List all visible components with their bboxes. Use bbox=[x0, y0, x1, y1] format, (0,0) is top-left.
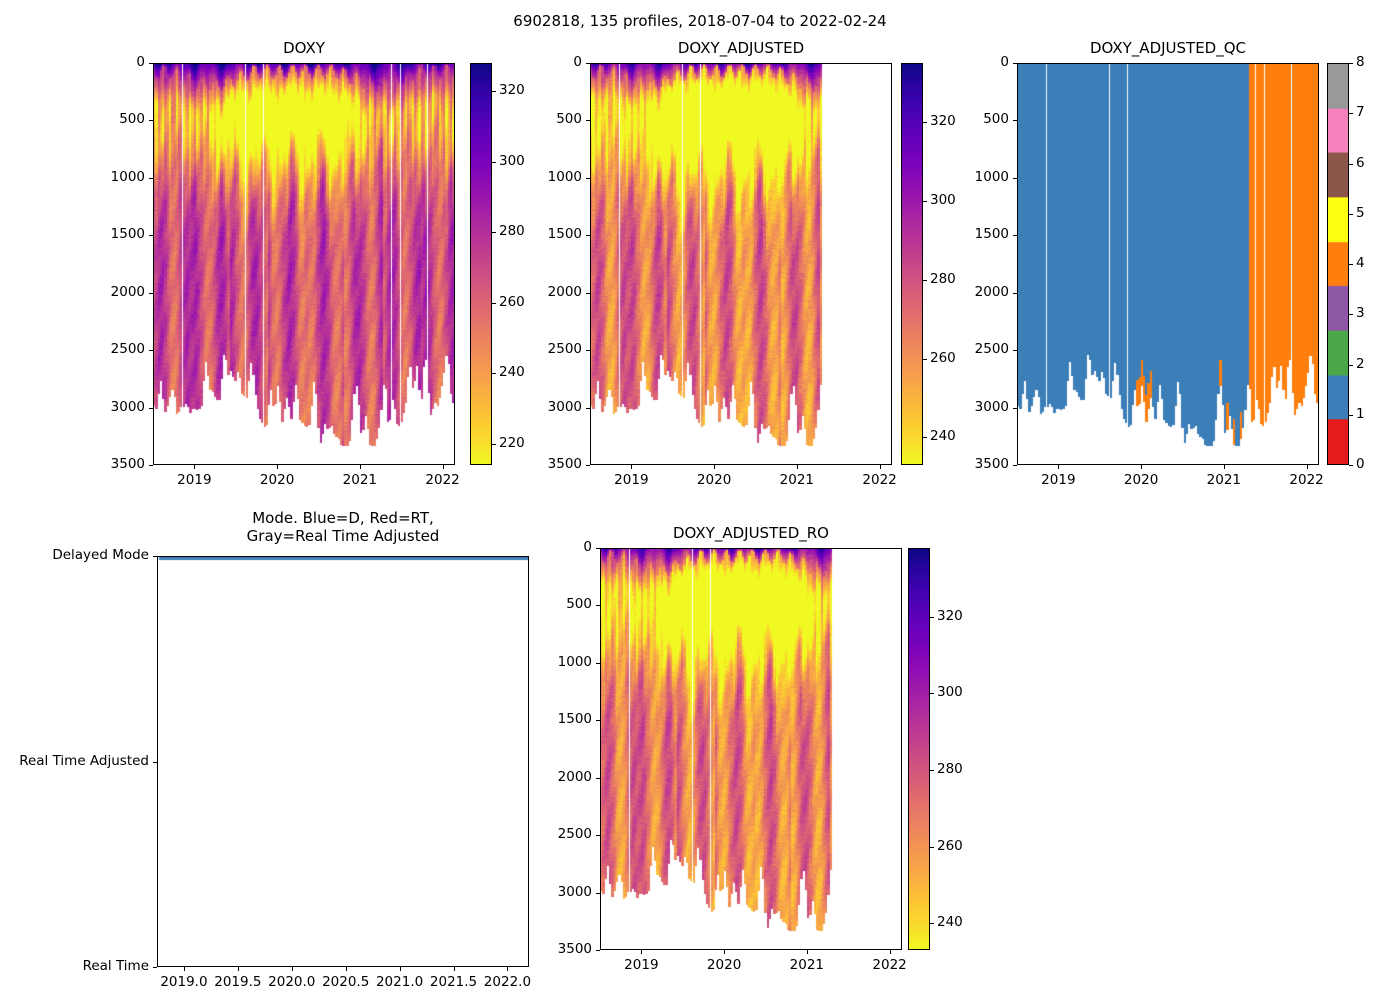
doxy-adjusted-ytick-label: 3500 bbox=[526, 456, 582, 472]
mode-ytick-mark bbox=[153, 967, 157, 968]
doxy-adjusted-qc-ytick-mark bbox=[1013, 235, 1017, 236]
doxy-adjusted-ytick-mark bbox=[586, 120, 590, 121]
doxy-adjusted-qc-ytick-mark bbox=[1013, 63, 1017, 64]
doxy-adjusted-ro-ytick-mark bbox=[596, 835, 600, 836]
doxy-adjusted-cbar-tick-mark bbox=[923, 280, 927, 281]
mode-xtick-mark bbox=[238, 967, 239, 971]
doxy-adjusted-qc-colorbar[interactable] bbox=[1327, 63, 1349, 465]
doxy-adjusted-qc-xtick-mark bbox=[1141, 465, 1142, 469]
doxy-xtick-label: 2020 bbox=[247, 472, 307, 488]
doxy-ytick-label: 500 bbox=[89, 111, 145, 127]
doxy-adjusted-ro-xtick-label: 2019 bbox=[611, 957, 671, 973]
doxy-adjusted-qc-ytick-mark bbox=[1013, 350, 1017, 351]
doxy-adjusted-xtick-mark bbox=[880, 465, 881, 469]
doxy-adjusted-qc-ytick-mark bbox=[1013, 293, 1017, 294]
doxy-adjusted-qc-ytick-label: 2000 bbox=[953, 284, 1009, 300]
doxy-cbar-tick-mark bbox=[492, 444, 496, 445]
doxy-adjusted-ro-xtick-mark bbox=[807, 950, 808, 954]
doxy-cbar-tick-mark bbox=[492, 232, 496, 233]
doxy-ytick-label: 1500 bbox=[89, 226, 145, 242]
doxy-adjusted-ro-plot-area[interactable] bbox=[600, 548, 902, 950]
doxy-adjusted-ytick-label: 1000 bbox=[526, 169, 582, 185]
doxy-adjusted-qc-cbar-tick-mark bbox=[1349, 465, 1353, 466]
doxy-adjusted-qc-plot-area[interactable] bbox=[1017, 63, 1319, 465]
doxy-adjusted-ro-ytick-mark bbox=[596, 605, 600, 606]
mode-xtick-label: 2019.0 bbox=[154, 974, 214, 990]
doxy-adjusted-ro-ytick-label: 1500 bbox=[536, 711, 592, 727]
doxy-adjusted-qc-cbar-tick-label: 8 bbox=[1356, 54, 1365, 70]
doxy-adjusted-qc-cbar-tick-label: 1 bbox=[1356, 406, 1365, 422]
doxy-ytick-mark bbox=[149, 178, 153, 179]
doxy-adjusted-ro-xtick-label: 2022 bbox=[860, 957, 920, 973]
doxy-adjusted-ro-cbar-tick-label: 320 bbox=[937, 608, 963, 624]
doxy-ytick-mark bbox=[149, 293, 153, 294]
doxy-xtick-label: 2022 bbox=[413, 472, 473, 488]
doxy-cbar-tick-label: 300 bbox=[499, 153, 525, 169]
doxy-adjusted-ro-ytick-label: 2500 bbox=[536, 826, 592, 842]
panel-doxy-title: DOXY bbox=[153, 40, 455, 58]
doxy-adjusted-xtick-label: 2022 bbox=[850, 472, 910, 488]
doxy-adjusted-ro-colorbar[interactable] bbox=[908, 548, 930, 950]
doxy-adjusted-xtick-label: 2020 bbox=[684, 472, 744, 488]
doxy-adjusted-ro-cbar-tick-label: 260 bbox=[937, 838, 963, 854]
doxy-adjusted-qc-xtick-label: 2020 bbox=[1111, 472, 1171, 488]
doxy-adjusted-qc-xtick-label: 2021 bbox=[1194, 472, 1254, 488]
doxy-adjusted-qc-cbar-tick-label: 5 bbox=[1356, 205, 1365, 221]
doxy-adjusted-qc-ytick-label: 3500 bbox=[953, 456, 1009, 472]
mode-xtick-mark bbox=[454, 967, 455, 971]
doxy-adjusted-ro-cbar-tick-label: 240 bbox=[937, 914, 963, 930]
doxy-plot-area[interactable] bbox=[153, 63, 455, 465]
doxy-adjusted-ro-xtick-mark bbox=[724, 950, 725, 954]
doxy-cbar-tick-label: 260 bbox=[499, 294, 525, 310]
doxy-cbar-tick-label: 280 bbox=[499, 223, 525, 239]
doxy-adjusted-cbar-tick-mark bbox=[923, 201, 927, 202]
doxy-adjusted-ytick-mark bbox=[586, 178, 590, 179]
doxy-adjusted-qc-cbar-tick-label: 6 bbox=[1356, 155, 1365, 171]
doxy-adjusted-qc-ytick-mark bbox=[1013, 465, 1017, 466]
doxy-adjusted-ro-cbar-tick-mark bbox=[930, 617, 934, 618]
mode-xtick-label: 2020.0 bbox=[262, 974, 322, 990]
doxy-adjusted-ytick-mark bbox=[586, 235, 590, 236]
doxy-adjusted-cbar-tick-mark bbox=[923, 359, 927, 360]
mode-xtick-mark bbox=[184, 967, 185, 971]
doxy-adjusted-xtick-mark bbox=[714, 465, 715, 469]
doxy-ytick-mark bbox=[149, 235, 153, 236]
doxy-adjusted-qc-xtick-mark bbox=[1224, 465, 1225, 469]
doxy-ytick-label: 3000 bbox=[89, 399, 145, 415]
doxy-adjusted-ytick-label: 1500 bbox=[526, 226, 582, 242]
mode-xtick-mark bbox=[346, 967, 347, 971]
mode-xtick-mark bbox=[507, 967, 508, 971]
doxy-adjusted-cbar-tick-mark bbox=[923, 437, 927, 438]
doxy-adjusted-ro-ytick-mark bbox=[596, 663, 600, 664]
doxy-cbar-tick-label: 220 bbox=[499, 435, 525, 451]
doxy-adjusted-ytick-label: 3000 bbox=[526, 399, 582, 415]
doxy-adjusted-ro-cbar-tick-mark bbox=[930, 693, 934, 694]
doxy-adjusted-ro-ytick-label: 500 bbox=[536, 596, 592, 612]
doxy-adjusted-ro-cbar-tick-label: 280 bbox=[937, 761, 963, 777]
mode-plot-area[interactable] bbox=[157, 556, 529, 967]
doxy-adjusted-ytick-label: 500 bbox=[526, 111, 582, 127]
doxy-ytick-label: 1000 bbox=[89, 169, 145, 185]
doxy-adjusted-qc-cbar-tick-label: 2 bbox=[1356, 356, 1365, 372]
doxy-adjusted-ro-ytick-label: 3000 bbox=[536, 884, 592, 900]
doxy-xtick-label: 2021 bbox=[330, 472, 390, 488]
doxy-ytick-label: 2500 bbox=[89, 341, 145, 357]
doxy-adjusted-ytick-label: 2000 bbox=[526, 284, 582, 300]
panel-doxy-adjusted-qc-title: DOXY_ADJUSTED_QC bbox=[1017, 40, 1319, 58]
doxy-colorbar[interactable] bbox=[470, 63, 492, 465]
doxy-adjusted-qc-cbar-tick-mark bbox=[1349, 365, 1353, 366]
doxy-adjusted-ytick-mark bbox=[586, 350, 590, 351]
doxy-adjusted-xtick-label: 2021 bbox=[767, 472, 827, 488]
doxy-adjusted-ytick-mark bbox=[586, 293, 590, 294]
doxy-adjusted-ytick-mark bbox=[586, 465, 590, 466]
doxy-xtick-mark bbox=[194, 465, 195, 469]
doxy-xtick-mark bbox=[277, 465, 278, 469]
doxy-adjusted-qc-cbar-tick-label: 4 bbox=[1356, 255, 1365, 271]
mode-xtick-label: 2022.0 bbox=[477, 974, 537, 990]
mode-ytick-mark bbox=[153, 556, 157, 557]
doxy-adjusted-cbar-tick-label: 300 bbox=[930, 192, 956, 208]
doxy-adjusted-qc-ytick-mark bbox=[1013, 178, 1017, 179]
doxy-adjusted-ro-ytick-label: 0 bbox=[536, 539, 592, 555]
panel-doxy-adjusted-title: DOXY_ADJUSTED bbox=[590, 40, 892, 58]
doxy-adjusted-ro-ytick-label: 2000 bbox=[536, 769, 592, 785]
doxy-adjusted-cbar-tick-label: 240 bbox=[930, 428, 956, 444]
doxy-adjusted-qc-ytick-label: 1000 bbox=[953, 169, 1009, 185]
doxy-adjusted-ro-ytick-label: 3500 bbox=[536, 941, 592, 957]
doxy-adjusted-ro-xtick-mark bbox=[641, 950, 642, 954]
doxy-adjusted-qc-ytick-label: 2500 bbox=[953, 341, 1009, 357]
mode-xtick-mark bbox=[400, 967, 401, 971]
doxy-adjusted-qc-xtick-label: 2019 bbox=[1028, 472, 1088, 488]
doxy-adjusted-qc-ytick-label: 1500 bbox=[953, 226, 1009, 242]
doxy-adjusted-qc-cbar-tick-mark bbox=[1349, 264, 1353, 265]
doxy-adjusted-qc-xtick-mark bbox=[1058, 465, 1059, 469]
doxy-adjusted-qc-cbar-tick-mark bbox=[1349, 415, 1353, 416]
figure-canvas: 6902818, 135 profiles, 2018-07-04 to 202… bbox=[0, 0, 1400, 1000]
doxy-ytick-mark bbox=[149, 465, 153, 466]
doxy-adjusted-plot-area[interactable] bbox=[590, 63, 892, 465]
doxy-adjusted-qc-cbar-tick-mark bbox=[1349, 214, 1353, 215]
doxy-adjusted-qc-cbar-tick-label: 0 bbox=[1356, 456, 1365, 472]
doxy-adjusted-ytick-label: 2500 bbox=[526, 341, 582, 357]
doxy-cbar-tick-label: 320 bbox=[499, 82, 525, 98]
doxy-adjusted-ro-ytick-label: 1000 bbox=[536, 654, 592, 670]
doxy-adjusted-xtick-mark bbox=[631, 465, 632, 469]
doxy-adjusted-ro-cbar-tick-label: 300 bbox=[937, 684, 963, 700]
doxy-ytick-label: 0 bbox=[89, 54, 145, 70]
mode-xtick-mark bbox=[292, 967, 293, 971]
doxy-adjusted-ro-xtick-mark bbox=[890, 950, 891, 954]
doxy-adjusted-colorbar[interactable] bbox=[901, 63, 923, 465]
mode-xtick-label: 2021.0 bbox=[370, 974, 430, 990]
doxy-adjusted-qc-ytick-label: 3000 bbox=[953, 399, 1009, 415]
doxy-adjusted-ytick-mark bbox=[586, 63, 590, 64]
doxy-ytick-mark bbox=[149, 120, 153, 121]
doxy-adjusted-ro-xtick-label: 2021 bbox=[777, 957, 837, 973]
doxy-cbar-tick-mark bbox=[492, 373, 496, 374]
doxy-adjusted-ro-ytick-mark bbox=[596, 950, 600, 951]
doxy-ytick-mark bbox=[149, 408, 153, 409]
mode-xtick-label: 2020.5 bbox=[316, 974, 376, 990]
doxy-adjusted-xtick-label: 2019 bbox=[601, 472, 661, 488]
doxy-adjusted-qc-ytick-mark bbox=[1013, 120, 1017, 121]
doxy-adjusted-qc-ytick-label: 0 bbox=[953, 54, 1009, 70]
doxy-adjusted-ytick-label: 0 bbox=[526, 54, 582, 70]
doxy-adjusted-qc-cbar-tick-label: 7 bbox=[1356, 104, 1365, 120]
mode-ytick-label: Real Time Adjusted bbox=[0, 753, 149, 769]
panel-mode-title: Mode. Blue=D, Red=RT, Gray=Real Time Adj… bbox=[157, 510, 529, 545]
panel-doxy-adjusted-ro-title: DOXY_ADJUSTED_RO bbox=[600, 525, 902, 543]
doxy-adjusted-ro-xtick-label: 2020 bbox=[694, 957, 754, 973]
mode-ytick-mark bbox=[153, 762, 157, 763]
doxy-adjusted-qc-xtick-mark bbox=[1307, 465, 1308, 469]
doxy-adjusted-ro-ytick-mark bbox=[596, 778, 600, 779]
doxy-adjusted-qc-cbar-tick-mark bbox=[1349, 314, 1353, 315]
doxy-adjusted-ytick-mark bbox=[586, 408, 590, 409]
doxy-adjusted-ro-ytick-mark bbox=[596, 893, 600, 894]
mode-ytick-label: Real Time bbox=[0, 958, 149, 974]
doxy-adjusted-ro-cbar-tick-mark bbox=[930, 923, 934, 924]
doxy-adjusted-qc-cbar-tick-mark bbox=[1349, 164, 1353, 165]
doxy-ytick-mark bbox=[149, 63, 153, 64]
doxy-adjusted-qc-ytick-label: 500 bbox=[953, 111, 1009, 127]
doxy-xtick-mark bbox=[443, 465, 444, 469]
doxy-adjusted-xtick-mark bbox=[797, 465, 798, 469]
doxy-adjusted-qc-cbar-tick-mark bbox=[1349, 63, 1353, 64]
doxy-adjusted-ro-ytick-mark bbox=[596, 720, 600, 721]
mode-xtick-label: 2019.5 bbox=[208, 974, 268, 990]
doxy-adjusted-qc-ytick-mark bbox=[1013, 408, 1017, 409]
doxy-adjusted-cbar-tick-mark bbox=[923, 122, 927, 123]
doxy-adjusted-ro-cbar-tick-mark bbox=[930, 847, 934, 848]
doxy-cbar-tick-mark bbox=[492, 162, 496, 163]
doxy-xtick-label: 2019 bbox=[164, 472, 224, 488]
doxy-xtick-mark bbox=[360, 465, 361, 469]
figure-suptitle: 6902818, 135 profiles, 2018-07-04 to 202… bbox=[0, 12, 1400, 30]
doxy-adjusted-ro-ytick-mark bbox=[596, 548, 600, 549]
doxy-adjusted-qc-cbar-tick-label: 3 bbox=[1356, 305, 1365, 321]
doxy-cbar-tick-mark bbox=[492, 303, 496, 304]
doxy-adjusted-qc-xtick-label: 2022 bbox=[1277, 472, 1337, 488]
doxy-cbar-tick-mark bbox=[492, 91, 496, 92]
mode-xtick-label: 2021.5 bbox=[424, 974, 484, 990]
doxy-adjusted-cbar-tick-label: 260 bbox=[930, 350, 956, 366]
doxy-ytick-label: 3500 bbox=[89, 456, 145, 472]
doxy-adjusted-cbar-tick-label: 320 bbox=[930, 113, 956, 129]
doxy-ytick-label: 2000 bbox=[89, 284, 145, 300]
doxy-cbar-tick-label: 240 bbox=[499, 364, 525, 380]
doxy-adjusted-cbar-tick-label: 280 bbox=[930, 271, 956, 287]
mode-ytick-label: Delayed Mode bbox=[0, 547, 149, 563]
doxy-ytick-mark bbox=[149, 350, 153, 351]
doxy-adjusted-qc-cbar-tick-mark bbox=[1349, 113, 1353, 114]
doxy-adjusted-ro-cbar-tick-mark bbox=[930, 770, 934, 771]
